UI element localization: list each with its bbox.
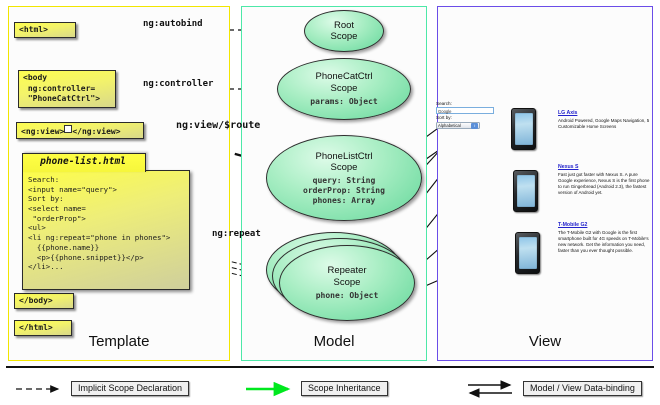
ngview-open-tag: <ng:view> — [21, 127, 64, 136]
phone-screen — [517, 175, 535, 207]
phone-name-link[interactable]: Nexus S — [558, 164, 650, 171]
code-box-html-close: </html> — [14, 320, 72, 336]
scope-phonecatctrl-props: params: Object — [310, 97, 377, 107]
legend-label: Scope Inheritance — [301, 381, 388, 396]
legend-divider — [6, 366, 654, 368]
sort-select-value: Alphabetical — [438, 123, 461, 128]
phone-image-t-mobile-g2 — [515, 232, 540, 274]
edge-label-repeat: ng:repeat — [212, 229, 261, 239]
note-body-phone-list: Search: <input name="query"> Sort by: <s… — [22, 170, 190, 290]
phone-screen — [519, 237, 537, 269]
phone-snippet: Android Powered, Google Maps Navigation,… — [558, 118, 650, 130]
search-label: Search: — [436, 101, 502, 107]
panel-label-model: Model — [241, 333, 427, 350]
ngview-close-tag: </ng:view> — [72, 127, 120, 136]
phone-name-link[interactable]: LG Axis — [558, 110, 650, 117]
scope-phonecatctrl-title: PhoneCatCtrl Scope — [315, 71, 372, 93]
legend-label: Model / View Data-binding — [523, 381, 642, 396]
phone-image-nexus-s — [513, 170, 538, 212]
legend-item-inheritance: Scope Inheritance — [244, 381, 388, 396]
scope-repeater-title: Repeater Scope — [327, 265, 366, 287]
legend-green-arrow-icon — [244, 383, 296, 395]
list-item: T-Mobile G2 The T-Mobile G2 with Google … — [558, 222, 650, 254]
phone-snippet: The T-Mobile G2 with Google is the first… — [558, 230, 650, 254]
code-box-body-close: </body> — [14, 293, 74, 309]
edge-label-route: ng:view/$route — [176, 120, 260, 131]
phone-screen — [515, 113, 533, 145]
diagram-canvas: Template Model View <html> <body ng:cont… — [0, 0, 660, 405]
scope-phonecatctrl: PhoneCatCtrl Scope params: Object — [277, 58, 411, 120]
search-input[interactable]: Google — [436, 107, 494, 114]
phone-snippet: Fast just got faster with Nexus S. A pur… — [558, 172, 650, 196]
edge-label-autobind: ng:autobind — [143, 19, 203, 29]
scope-root-title: Root Scope — [331, 20, 358, 42]
legend-double-arrow-icon — [466, 381, 518, 397]
code-box-ngview: <ng:view></ng:view> — [16, 122, 144, 139]
scope-phonelistctrl-title: PhoneListCtrl Scope — [315, 151, 372, 173]
phone-image-lg-axis — [511, 108, 536, 150]
view-search-form: Search: Google Sort by: Alphabetical ↕ — [436, 101, 502, 129]
chevron-down-icon: ↕ — [471, 123, 478, 129]
code-box-html-open: <html> — [14, 22, 76, 38]
list-item: Nexus S Fast just got faster with Nexus … — [558, 164, 650, 196]
legend-dashed-arrow-icon — [14, 383, 66, 395]
scope-root: Root Scope — [304, 10, 384, 52]
scope-repeater: Repeater Scope phone: Object — [279, 245, 415, 321]
list-item: LG Axis Android Powered, Google Maps Nav… — [558, 110, 650, 130]
legend-item-implicit: Implicit Scope Declaration — [14, 381, 189, 396]
scope-phonelistctrl-props: query: String orderProp: String phones: … — [303, 176, 385, 205]
scope-phonelistctrl: PhoneListCtrl Scope query: String orderP… — [266, 135, 422, 221]
legend-label: Implicit Scope Declaration — [71, 381, 189, 396]
scope-repeater-props: phone: Object — [316, 291, 379, 301]
panel-label-view: View — [437, 333, 653, 350]
sort-label: Sort by: — [436, 115, 502, 121]
sort-select[interactable]: Alphabetical ↕ — [436, 122, 480, 130]
phone-name-link[interactable]: T-Mobile G2 — [558, 222, 650, 229]
edge-label-controller: ng:controller — [143, 79, 213, 89]
note-title-phone-list: phone-list.html — [22, 153, 144, 171]
legend-item-databinding: Model / View Data-binding — [466, 381, 642, 396]
code-box-body-open: <body ng:controller= "PhoneCatCtrl"> — [18, 70, 116, 108]
